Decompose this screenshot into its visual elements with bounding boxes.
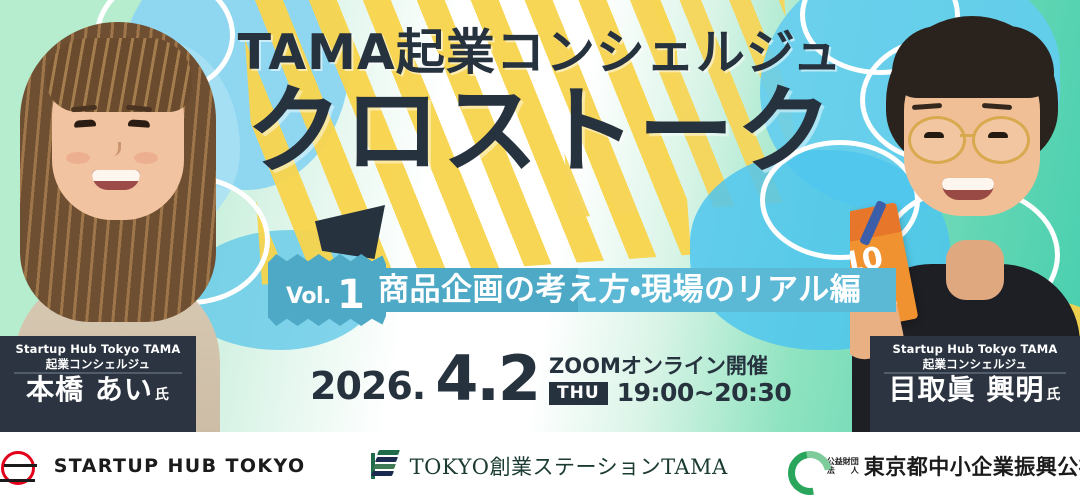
speaker-nameplate-right: Startup Hub Tokyo TAMA 起業コンシェルジュ 目取眞 興明氏: [870, 336, 1080, 432]
speaker-left-org: Startup Hub Tokyo TAMA: [15, 342, 180, 356]
volume-label: Vol.: [286, 284, 331, 309]
event-time: 19:00~20:30: [617, 380, 792, 406]
speaker-right-org: Startup Hub Tokyo TAMA: [892, 342, 1057, 356]
speaker-left-role: Startup Hub Tokyo TAMA 起業コンシェルジュ: [0, 342, 196, 372]
speaker-right-name-row: 目取眞 興明氏: [870, 374, 1080, 411]
speaker-left-cheek: [134, 152, 158, 164]
mark-bar: [371, 471, 394, 476]
glasses-bridge-icon: [960, 134, 974, 137]
swoosh-arc: [779, 442, 840, 500]
underline-icon: [0, 479, 35, 482]
glasses-icon: [908, 116, 966, 164]
tmz-label-line1: 公益財団: [827, 457, 859, 466]
logo-startup-hub-tokyo: S STARTUP HUB TOKYO: [0, 449, 306, 483]
speaker-right-eye: [988, 132, 1008, 138]
event-weekday-badge: THU: [549, 382, 608, 405]
event-day: 4.2: [435, 350, 539, 408]
speaker-left-teeth: [92, 170, 140, 181]
speaker-left-fringe-highlights: [46, 38, 192, 112]
speaker-left-eye: [128, 119, 150, 128]
event-banner: 510 TAMA起業コンシェルジュ クロストーク Vol. 1 商品企画の考え方…: [0, 0, 1080, 500]
glasses-icon: [972, 116, 1030, 164]
mark-bar: [373, 464, 396, 469]
speaker-nameplate-left: Startup Hub Tokyo TAMA 起業コンシェルジュ 本橋 あい氏: [0, 336, 196, 432]
volume-number: 1: [337, 272, 365, 318]
event-year: 2026.: [310, 364, 425, 408]
logo-tokyo-creation-station: TOKYO創業ステーションTAMA: [368, 449, 728, 483]
speaker-right-role: Startup Hub Tokyo TAMA 起業コンシェルジュ: [870, 342, 1080, 372]
mark-bar: [375, 457, 398, 462]
sponsor-logo-bar: S STARTUP HUB TOKYO TOKYO創業ステーションTAMA: [0, 432, 1080, 500]
speaker-left-cheek: [66, 152, 90, 164]
speaker-left-name-suffix: 氏: [155, 387, 170, 403]
event-format: ZOOMオンライン開催: [549, 355, 791, 377]
crossline-icon: [4, 464, 37, 467]
logo-tokyo-sme-support-center: 公益財団 法 人 東京都中小企業振興公社: [788, 451, 1080, 481]
speaker-right-teeth: [942, 178, 994, 190]
speaker-left-name: 本橋 あい: [26, 373, 153, 406]
tmz-wordmark: 東京都中小企業振興公社: [864, 451, 1080, 481]
speaker-right-mouth: [942, 178, 994, 200]
tokyo-creation-wordmark: TOKYO創業ステーションTAMA: [410, 451, 728, 481]
speaker-left-name-row: 本橋 あい氏: [0, 374, 196, 411]
tokyo-creation-mark-icon: [368, 449, 402, 483]
speaker-right-role-label: 起業コンシェルジュ: [870, 357, 1080, 372]
speaker-right-fringe: [892, 26, 1054, 98]
speaker-right-name-suffix: 氏: [1046, 387, 1061, 403]
startup-hub-wordmark: STARTUP HUB TOKYO: [54, 455, 306, 477]
speaker-left-role-label: 起業コンシェルジュ: [0, 357, 196, 372]
event-date-row: 2026. 4.2 ZOOMオンライン開催 THU 19:00~20:30: [310, 350, 791, 408]
green-swoosh-icon: [788, 451, 818, 481]
event-detail-block: ZOOMオンライン開催 THU 19:00~20:30: [549, 355, 791, 408]
speaker-left-mouth: [92, 170, 140, 190]
subtitle-text: 商品企画の考え方・現場のリアル編: [378, 273, 888, 307]
subtitle-bar: Vol. 1 商品企画の考え方・現場のリアル編: [0, 268, 1080, 318]
startup-hub-mark-icon: S: [0, 449, 42, 483]
speaker-right-name: 目取眞 興明: [889, 373, 1045, 406]
event-time-row: THU 19:00~20:30: [549, 380, 791, 406]
mark-bar: [377, 450, 400, 455]
speaker-right-eye: [924, 132, 944, 138]
